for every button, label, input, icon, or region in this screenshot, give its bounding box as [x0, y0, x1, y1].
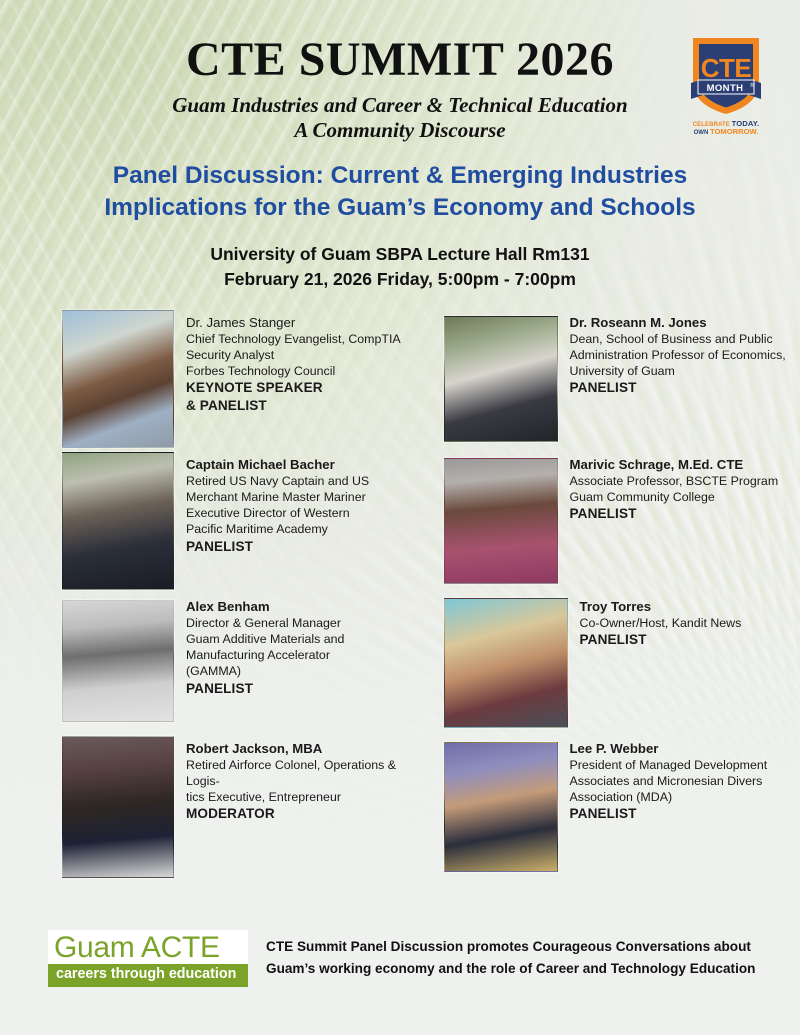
event-details: University of Guam SBPA Lecture Hall Rm1…	[0, 242, 800, 292]
speaker-detail-line: Guam Community College	[570, 489, 779, 505]
acte-logo-wordmark: Guam ACTE	[48, 930, 248, 965]
portrait-troy-torres	[444, 598, 568, 728]
speaker-detail-line: Security Analyst	[186, 347, 401, 363]
speaker-detail-line: President of Managed Development	[570, 757, 768, 773]
event-venue: University of Guam SBPA Lecture Hall Rm1…	[0, 242, 800, 267]
speaker-name: Captain Michael Bacher	[186, 456, 369, 473]
speaker-name: Robert Jackson, MBA	[186, 740, 419, 757]
svg-text:CTE: CTE	[701, 53, 752, 83]
speaker-card: Captain Michael BacherRetired US Navy Ca…	[0, 452, 419, 590]
speaker-role: PANELIST	[570, 805, 768, 823]
speaker-card: Alex BenhamDirector & General ManagerGua…	[0, 594, 419, 728]
portrait-roseann-jones	[444, 316, 558, 442]
speaker-name: Troy Torres	[580, 598, 742, 615]
speaker-row: Robert Jackson, MBARetired Airforce Colo…	[0, 736, 800, 878]
portrait-alex-benham	[62, 600, 174, 722]
speaker-detail-line: University of Guam	[570, 363, 786, 379]
speaker-info: Captain Michael BacherRetired US Navy Ca…	[174, 452, 369, 556]
acte-title: Guam ACTE	[54, 933, 242, 964]
speaker-row: Captain Michael BacherRetired US Navy Ca…	[0, 452, 800, 590]
portrait-robert-jackson	[62, 736, 174, 878]
poster-footer: Guam ACTE careers through education CTE …	[0, 930, 800, 987]
speaker-role: PANELIST	[186, 680, 344, 698]
footer-statement-line-1: CTE Summit Panel Discussion promotes Cou…	[266, 936, 755, 958]
speaker-role-continued: & PANELIST	[186, 397, 401, 415]
speaker-role: PANELIST	[570, 379, 786, 397]
portrait-marivic-schrage	[444, 458, 558, 584]
tagline-own: OWN	[694, 130, 709, 136]
subtitle-line-2: A Community Discourse	[0, 118, 800, 143]
speaker-name: Alex Benham	[186, 598, 344, 615]
footer-statement: CTE Summit Panel Discussion promotes Cou…	[266, 936, 755, 981]
speaker-card: Lee P. WebberPresident of Managed Develo…	[419, 736, 800, 878]
guam-acte-logo: Guam ACTE careers through education	[48, 930, 248, 987]
event-datetime: February 21, 2026 Friday, 5:00pm - 7:00p…	[0, 267, 800, 292]
speaker-card: Troy TorresCo-Owner/Host, Kandit NewsPAN…	[419, 594, 800, 728]
acte-logo-tagline-bar: careers through education	[48, 964, 248, 987]
speaker-detail-line: Chief Technology Evangelist, CompTIA	[186, 331, 401, 347]
speaker-info: Dr. James StangerChief Technology Evange…	[174, 310, 401, 415]
speaker-info: Troy TorresCo-Owner/Host, Kandit NewsPAN…	[568, 594, 742, 649]
speaker-card: Robert Jackson, MBARetired Airforce Colo…	[0, 736, 419, 878]
speaker-card: Dr. James StangerChief Technology Evange…	[0, 310, 419, 448]
speaker-role: PANELIST	[580, 631, 742, 649]
speaker-role: MODERATOR	[186, 805, 419, 823]
speaker-detail-line: Association (MDA)	[570, 789, 768, 805]
speaker-role: KEYNOTE SPEAKER	[186, 379, 401, 397]
page-title: CTE SUMMIT 2026	[0, 36, 800, 84]
tagline-tomorrow: TOMORROW.	[710, 127, 758, 136]
speaker-name: Dr. Roseann M. Jones	[570, 314, 786, 331]
cte-logo-tagline: CELEBRATE TODAY. OWN TOMORROW.	[682, 120, 770, 137]
speaker-card: Marivic Schrage, M.Ed. CTEAssociate Prof…	[419, 452, 800, 590]
poster-header: CTE SUMMIT 2026 Guam Industries and Care…	[0, 0, 800, 292]
speaker-name: Lee P. Webber	[570, 740, 768, 757]
speaker-detail-line: Forbes Technology Council	[186, 363, 401, 379]
speaker-detail-line: Guam Additive Materials and	[186, 631, 344, 647]
speaker-name: Marivic Schrage, M.Ed. CTE	[570, 456, 779, 473]
panel-heading: Panel Discussion: Current & Emerging Ind…	[0, 160, 800, 226]
speaker-info: Robert Jackson, MBARetired Airforce Colo…	[174, 736, 419, 823]
speaker-grid: Dr. James StangerChief Technology Evange…	[0, 310, 800, 878]
speaker-detail-line: Dean, School of Business and Public	[570, 331, 786, 347]
subtitle-line-1: Guam Industries and Career & Technical E…	[0, 93, 800, 118]
speaker-role: PANELIST	[186, 538, 369, 556]
speaker-detail-line: (GAMMA)	[186, 663, 344, 679]
portrait-james-stanger	[62, 310, 174, 448]
speaker-detail-line: Co-Owner/Host, Kandit News	[580, 615, 742, 631]
speaker-detail-line: Merchant Marine Master Mariner	[186, 489, 369, 505]
svg-text:MONTH: MONTH	[707, 83, 744, 94]
speaker-detail-line: Pacific Maritime Academy	[186, 521, 369, 537]
speaker-role: PANELIST	[570, 505, 779, 523]
cte-summit-flyer: CTE MONTH ® CELEBRATE TODAY. OWN TOMORRO…	[0, 0, 800, 1035]
footer-statement-line-2: Guam’s working economy and the role of C…	[266, 958, 755, 980]
acte-tagline: careers through education	[56, 967, 242, 983]
subtitle: Guam Industries and Career & Technical E…	[0, 93, 800, 143]
cte-month-logo: CTE MONTH ® CELEBRATE TODAY. OWN TOMORRO…	[682, 33, 770, 137]
speaker-info: Marivic Schrage, M.Ed. CTEAssociate Prof…	[558, 452, 779, 523]
speaker-detail-line: Executive Director of Western	[186, 505, 369, 521]
speaker-info: Dr. Roseann M. JonesDean, School of Busi…	[558, 310, 786, 397]
speaker-detail-line: Retired US Navy Captain and US	[186, 473, 369, 489]
speaker-detail-line: tics Executive, Entrepreneur	[186, 789, 419, 805]
speaker-info: Lee P. WebberPresident of Managed Develo…	[558, 736, 768, 823]
panel-heading-line-1: Panel Discussion: Current & Emerging Ind…	[0, 160, 800, 193]
speaker-detail-line: Associate Professor, BSCTE Program	[570, 473, 779, 489]
svg-text:®: ®	[750, 82, 754, 89]
panel-heading-line-2: Implications for the Guam’s Economy and …	[0, 192, 800, 225]
speaker-info: Alex BenhamDirector & General ManagerGua…	[174, 594, 344, 698]
speaker-detail-line: Retired Airforce Colonel, Operations & L…	[186, 757, 419, 789]
portrait-michael-bacher	[62, 452, 174, 590]
speaker-name: Dr. James Stanger	[186, 314, 401, 331]
portrait-lee-webber	[444, 742, 558, 872]
speaker-detail-line: Administration Professor of Economics,	[570, 347, 786, 363]
speaker-detail-line: Associates and Micronesian Divers	[570, 773, 768, 789]
speaker-detail-line: Director & General Manager	[186, 615, 344, 631]
cte-shield-icon: CTE MONTH ®	[690, 33, 762, 117]
speaker-row: Dr. James StangerChief Technology Evange…	[0, 310, 800, 448]
speaker-detail-line: Manufacturing Accelerator	[186, 647, 344, 663]
speaker-row: Alex BenhamDirector & General ManagerGua…	[0, 594, 800, 728]
speaker-card: Dr. Roseann M. JonesDean, School of Busi…	[419, 310, 800, 448]
